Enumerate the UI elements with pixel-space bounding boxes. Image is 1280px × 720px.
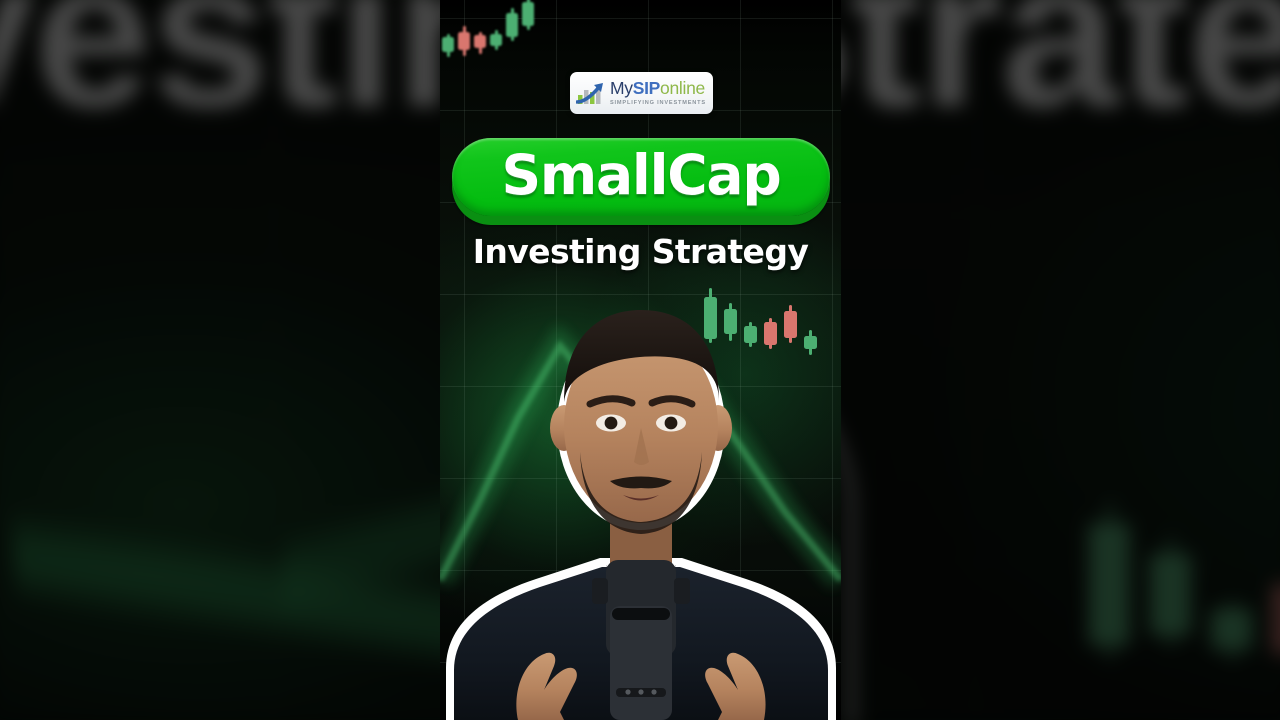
mic-barrel — [610, 606, 672, 720]
logo-tagline: SIMPLIFYING INVESTMENTS — [610, 101, 706, 107]
logo-online: online — [660, 78, 705, 98]
screen-canvas: Investing Strategy — [0, 0, 1280, 720]
logo-sip: SIP — [633, 78, 660, 98]
mic-grille — [612, 608, 670, 620]
candle-body — [522, 2, 534, 26]
mic-mount-right — [674, 578, 690, 604]
candle-body — [458, 32, 470, 50]
video-frame: MySIPonline SIMPLIFYING INVESTMENTS Smal… — [440, 0, 841, 720]
backdrop-candlestick-cluster — [1079, 370, 1280, 707]
subtitle: Investing Strategy — [440, 232, 841, 271]
pupil-left — [605, 417, 618, 430]
candle-body — [1272, 584, 1280, 653]
candle-body — [474, 35, 486, 48]
title-pill-wrapper: SmallCap — [452, 138, 830, 216]
candle-body — [1150, 554, 1191, 636]
mic-mount-left — [592, 578, 608, 604]
mic-led-2 — [638, 689, 643, 694]
mic-led-3 — [651, 689, 656, 694]
candle-body — [506, 13, 518, 37]
logo-my: My — [610, 78, 633, 98]
presenter-cutout — [440, 276, 841, 720]
logo-wordmark: MySIPonline — [610, 80, 706, 98]
pupil-right — [665, 417, 678, 430]
candlestick-cluster-top — [440, 0, 616, 74]
mic-led-1 — [625, 689, 630, 694]
candle-body — [442, 37, 454, 52]
pill-label: SmallCap — [502, 148, 781, 203]
candle-body — [490, 34, 502, 47]
logo-text-block: MySIPonline SIMPLIFYING INVESTMENTS — [610, 79, 706, 106]
candle-body — [1211, 609, 1252, 650]
mysiponline-logo[interactable]: MySIPonline SIMPLIFYING INVESTMENTS — [570, 72, 713, 114]
candle-body — [1089, 523, 1130, 645]
smallcap-pill: SmallCap — [452, 138, 830, 216]
logo-chart-arrow-icon — [576, 80, 606, 106]
